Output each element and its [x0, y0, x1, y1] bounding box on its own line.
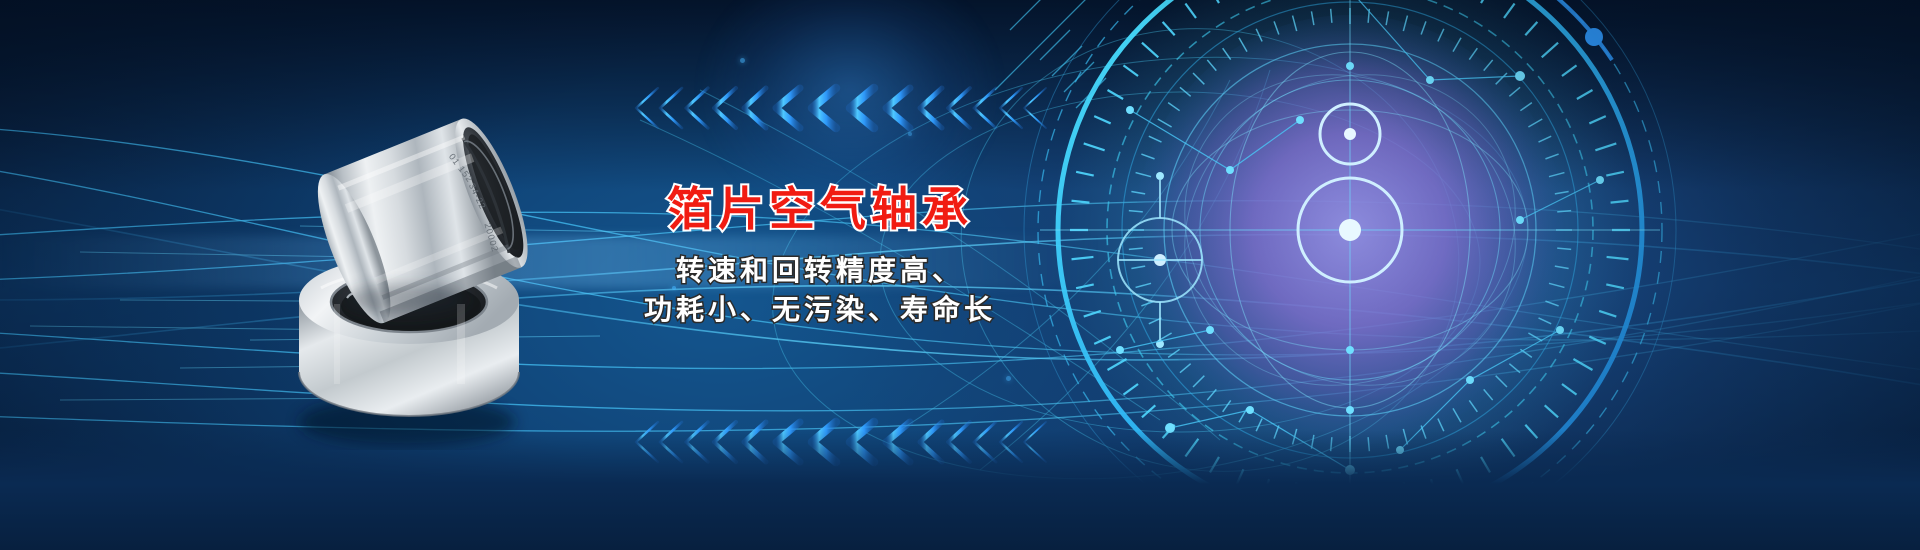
subtitle-line-2: 功耗小、无污染、寿命长 — [610, 290, 1030, 330]
banner-copy: 箔片空气轴承 转速和回转精度高、 功耗小、无污染、寿命长 — [610, 185, 1030, 330]
subtitle-line-1: 转速和回转精度高、 — [610, 251, 1030, 291]
background-bottom-band — [0, 430, 1920, 550]
ambient-dot — [1006, 376, 1011, 381]
ambient-dot — [672, 286, 676, 290]
page-title: 箔片空气轴承 — [610, 185, 1030, 235]
banner-subtitle: 转速和回转精度高、 功耗小、无污染、寿命长 — [610, 251, 1030, 331]
promo-banner: 01 152 34-22 20002 箔片空气轴承 转速和回转精度高、 功耗小、… — [0, 0, 1920, 550]
ambient-dot — [740, 58, 745, 63]
ambient-dot — [908, 132, 912, 136]
foil-air-bearing-photo: 01 152 34-22 20002 — [285, 50, 595, 450]
